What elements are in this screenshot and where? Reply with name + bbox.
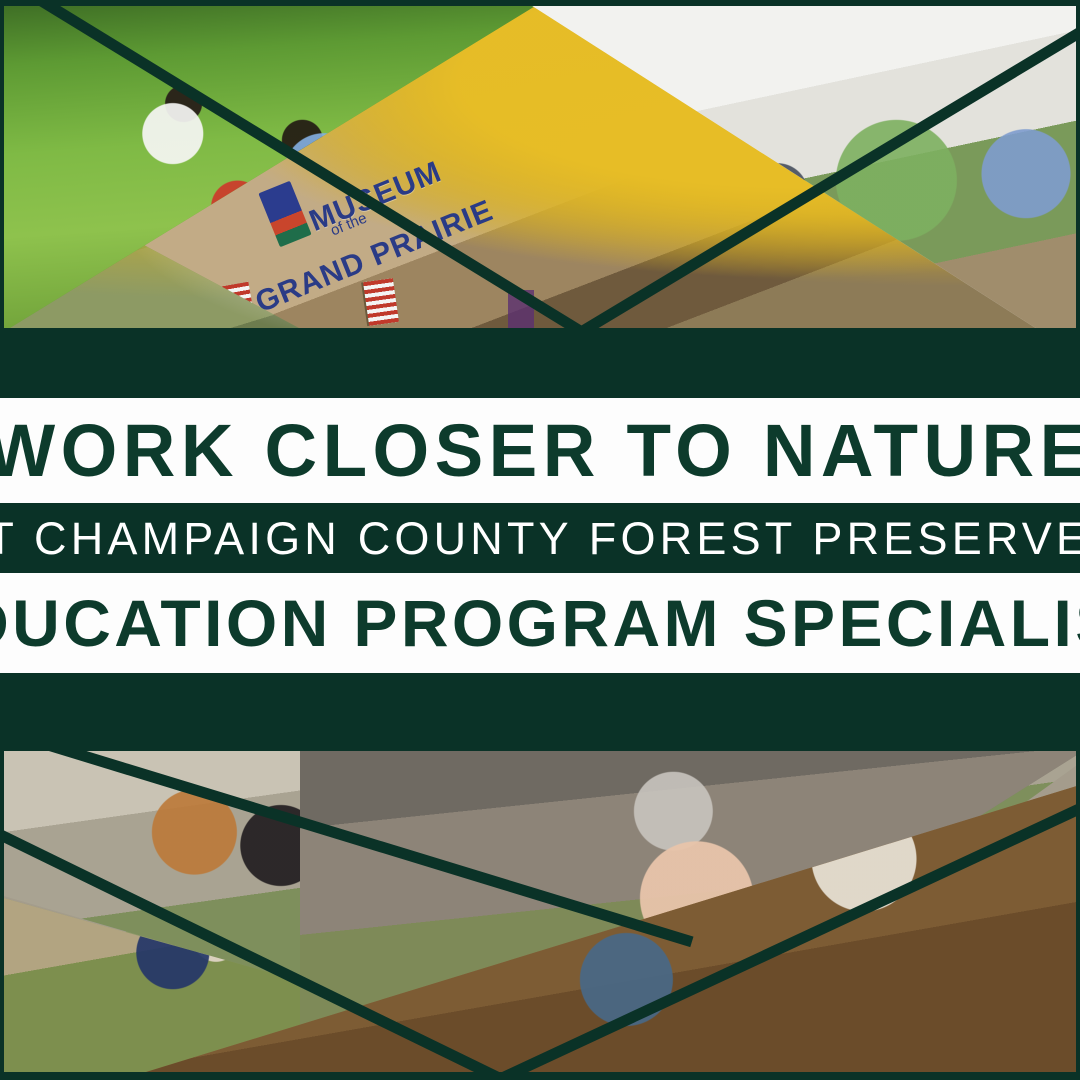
top-photo-collage: MUSEUM of the GRAND PRAIRIE (0, 0, 1080, 334)
collage-edge-left (0, 0, 4, 334)
collage-edge-top (0, 745, 1080, 751)
collage-edge-right (1076, 745, 1080, 1080)
page-title: WORK CLOSER TO NATURE (0, 414, 1080, 488)
job-role-title: EDUCATION PROGRAM SPECIALIST (0, 590, 1080, 656)
role-title-band: EDUCATION PROGRAM SPECIALIST (0, 573, 1080, 673)
collage-edge-right (1076, 0, 1080, 334)
subheadline-band: AT CHAMPAIGN COUNTY FOREST PRESERVES (0, 503, 1080, 573)
headline-band: WORK CLOSER TO NATURE (0, 398, 1080, 503)
collage-edge-top (0, 0, 1080, 6)
bottom-photo-collage (0, 745, 1080, 1080)
collage-edge-bottom (0, 1072, 1080, 1080)
job-posting-poster: MUSEUM of the GRAND PRAIRIE (0, 0, 1080, 1080)
american-flag-right (363, 278, 399, 326)
page-subtitle: AT CHAMPAIGN COUNTY FOREST PRESERVES (0, 516, 1080, 561)
collage-edge-left (0, 745, 4, 1080)
green-band-lower (0, 673, 1080, 745)
green-band-upper (0, 334, 1080, 398)
